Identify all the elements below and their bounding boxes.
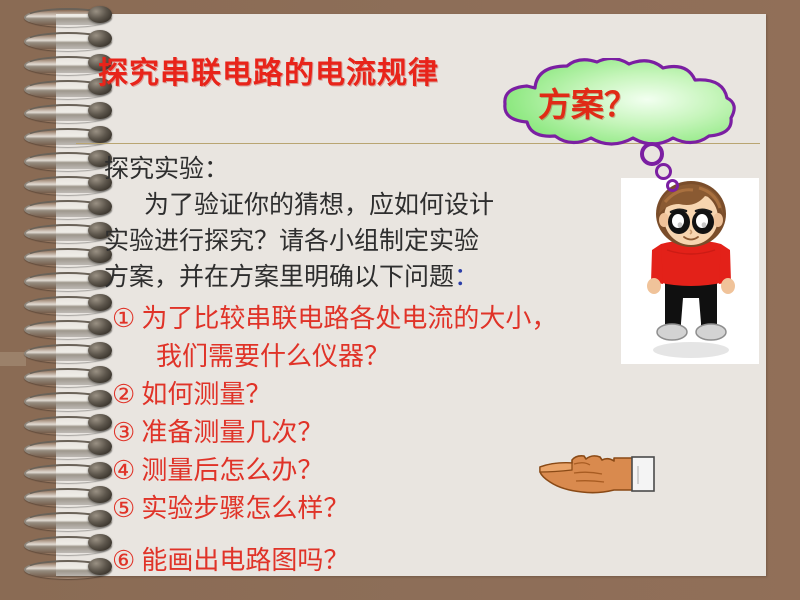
body-line-3-colon: ： [454,264,479,291]
question-list: ①为了比较串联电路各处电流的大小， 我们需要什么仪器？ ②如何测量？ ③准备测量… [112,300,652,580]
pointing-hand-left-icon [528,448,660,498]
body-line-2: 实验进行探究？请各小组制定实验 [104,224,624,260]
list-item: ①为了比较串联电路各处电流的大小， [112,300,652,338]
cloud-label: 方案？ [538,78,637,126]
list-item-number: ② [112,380,135,409]
cartoon-boy-illustration [621,178,759,364]
list-item: ③准备测量几次？ [112,414,652,452]
board-highlight-patch [0,352,26,366]
body-line-3: 方案，并在方案里明确以下问题： [104,260,624,296]
list-item-number: ① [112,304,135,333]
body-heading: 探究实验： [104,152,624,188]
slide-canvas: 探究串联电路的电流规律 探究实验： 为了验证你的猜想，应如何设计 实验进行探究？… [0,0,800,600]
list-item-label: 为了比较串联电路各处电流的大小， [141,304,557,333]
thought-bubble-medium [655,163,672,180]
page-title: 探究串联电路的电流规律 [98,48,439,92]
list-item-label: 实验步骤怎么样？ [141,494,349,523]
body-line-3-text: 方案，并在方案里明确以下问题 [104,264,454,291]
list-item: ②如何测量？ [112,376,652,414]
body-paragraph: 探究实验： 为了验证你的猜想，应如何设计 实验进行探究？请各小组制定实验 方案，… [104,152,624,296]
list-item-label: 准备测量几次？ [141,418,323,447]
body-line-1: 为了验证你的猜想，应如何设计 [104,188,624,224]
list-item-label: 如何测量？ [141,380,271,409]
list-item-number: ④ [112,456,135,485]
list-item-number: ⑥ [112,546,135,575]
list-item-number: ⑤ [112,494,135,523]
list-item-label: 能画出电路图吗？ [141,546,349,575]
list-item-continuation: 我们需要什么仪器？ [112,338,652,376]
boy-image-frame [621,178,759,364]
list-item: ⑥能画出电路图吗？ [112,542,652,580]
list-item-number: ③ [112,418,135,447]
list-item-label: 测量后怎么办？ [141,456,323,485]
thought-bubble-small [666,179,679,192]
